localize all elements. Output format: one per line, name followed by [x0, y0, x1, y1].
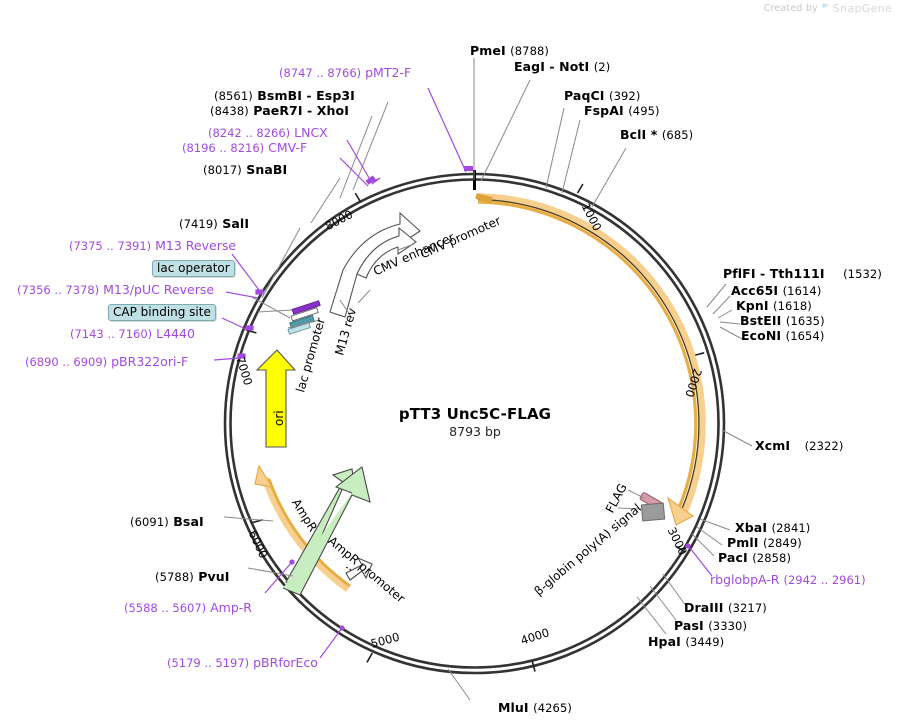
- enzyme-label-econi[interactable]: EcoNI (1654): [741, 329, 824, 342]
- primer-label-pmt2-f[interactable]: (8747 .. 8766) pMT2-F: [279, 66, 411, 79]
- primer-label-amp-r[interactable]: (5588 .. 5607) Amp-R: [124, 601, 252, 614]
- enzyme-position: (3217): [728, 601, 767, 615]
- enzyme-name: KpnI: [736, 298, 769, 313]
- enzyme-name: EagI - NotI: [514, 59, 589, 74]
- primer-name: CMV-F: [268, 140, 307, 155]
- plasmid-title-block: pTT3 Unc5C-FLAG 8793 bp: [325, 405, 625, 439]
- enzyme-position: (5788): [155, 570, 194, 584]
- enzyme-name: PasI: [674, 618, 704, 633]
- enzyme-label-mlui[interactable]: MluI (4265): [498, 701, 572, 714]
- enzyme-label-fspai[interactable]: FspAI (495): [584, 104, 660, 117]
- primer-range: (5179 .. 5197): [167, 656, 249, 670]
- enzyme-position: (495): [628, 104, 659, 118]
- enzyme-position: (2841): [772, 521, 811, 535]
- enzyme-name: FspAI: [584, 103, 624, 118]
- enzyme-name: PaqCI: [564, 88, 605, 103]
- primer-name: M13 Reverse: [155, 238, 236, 253]
- primer-label-m13-reverse[interactable]: (7375 .. 7391) M13 Reverse: [69, 239, 236, 252]
- unc5c-cds-arc: [476, 196, 702, 525]
- primer-range: (7375 .. 7391): [69, 239, 151, 253]
- primer-label-pbrforeco[interactable]: (5179 .. 5197) pBRforEco: [167, 656, 318, 669]
- enzyme-name: Acc65I: [731, 283, 778, 298]
- enzyme-label-sali[interactable]: (7419) SalI: [179, 217, 249, 230]
- enzyme-name: BsmBI - Esp3I: [257, 88, 355, 103]
- enzyme-position: (1532): [843, 267, 882, 281]
- primer-range: (5588 .. 5607): [124, 601, 206, 615]
- feature-box-lac-operator[interactable]: lac operator: [152, 260, 235, 277]
- primer-label-l4440[interactable]: (7143 .. 7160) L4440: [70, 327, 195, 340]
- primer-name: LNCX: [294, 125, 328, 140]
- enzyme-name: SalI: [222, 216, 249, 231]
- enzyme-name: BsaI: [173, 514, 203, 529]
- enzyme-label-pasi[interactable]: PasI (3330): [674, 619, 747, 632]
- enzyme-name: PacI: [718, 550, 748, 565]
- feature-label-ori[interactable]: ori: [272, 410, 286, 426]
- enzyme-name: XcmI: [755, 438, 790, 453]
- enzyme-label-bsai[interactable]: (6091) BsaI: [130, 515, 204, 528]
- enzyme-position: (1614): [783, 284, 822, 298]
- enzyme-label-pflfi-tth111i[interactable]: PflFI - Tth111I (1532): [723, 267, 882, 280]
- enzyme-label-kpni[interactable]: KpnI (1618): [736, 299, 812, 312]
- enzyme-position: (3449): [685, 635, 724, 649]
- enzyme-label-bcli[interactable]: BclI * (685): [620, 128, 693, 141]
- enzyme-position: (392): [609, 89, 640, 103]
- enzyme-position: (2322): [805, 439, 844, 453]
- primer-name: L4440: [156, 326, 195, 341]
- enzyme-name: PaeR7I - XhoI: [253, 103, 349, 118]
- enzyme-position: (8017): [203, 163, 242, 177]
- snapgene-watermark: Created by SnapGene: [764, 2, 892, 15]
- enzyme-position: (6091): [130, 515, 169, 529]
- primer-range: (7356 .. 7378): [17, 283, 99, 297]
- enzyme-label-pmei[interactable]: PmeI (8788): [470, 44, 549, 57]
- enzyme-label-xbai[interactable]: XbaI (2841): [735, 521, 810, 534]
- primer-name: M13/pUC Reverse: [103, 282, 214, 297]
- enzyme-position: (1654): [786, 329, 825, 343]
- enzyme-name: MluI: [498, 700, 529, 715]
- enzyme-position: (8561): [214, 89, 253, 103]
- primer-range: (8747 .. 8766): [279, 66, 361, 80]
- plasmid-map-canvas: Created by SnapGene: [0, 0, 898, 727]
- enzyme-position: (7419): [179, 217, 218, 231]
- enzyme-position: (2858): [752, 551, 791, 565]
- primer-range: (6890 .. 6909): [25, 355, 107, 369]
- primer-name: pMT2-F: [365, 65, 411, 80]
- enzyme-name: HpaI: [648, 634, 681, 649]
- plasmid-size: 8793 bp: [325, 424, 625, 439]
- enzyme-position: (8438): [210, 104, 249, 118]
- enzyme-name: DraIII: [684, 600, 724, 615]
- enzyme-position: (1618): [773, 299, 812, 313]
- primer-label-rbglobpa-r[interactable]: rbglobpA-R (2942 .. 2961): [710, 573, 866, 586]
- enzyme-label-xcmi[interactable]: XcmI (2322): [755, 439, 843, 452]
- feature-box-cap-binding-site[interactable]: CAP binding site: [108, 304, 216, 321]
- primer-range: (8196 .. 8216): [182, 141, 264, 155]
- enzyme-label-snabi[interactable]: (8017) SnaBI: [203, 163, 287, 176]
- primer-range: (7143 .. 7160): [70, 327, 152, 341]
- primer-label-cmv-f[interactable]: (8196 .. 8216) CMV-F: [182, 141, 307, 154]
- enzyme-label-draiii[interactable]: DraIII (3217): [684, 601, 767, 614]
- enzyme-position: (3330): [708, 619, 747, 633]
- primer-label-pbr322ori-f[interactable]: (6890 .. 6909) pBR322ori-F: [25, 355, 188, 368]
- watermark-brand: SnapGene: [833, 2, 892, 15]
- primer-name: rbglobpA-R: [710, 572, 779, 587]
- enzyme-label-hpai[interactable]: HpaI (3449): [648, 635, 724, 648]
- enzyme-label-paci[interactable]: PacI (2858): [718, 551, 791, 564]
- enzyme-name: XbaI: [735, 520, 767, 535]
- enzyme-name: SnaBI: [246, 162, 287, 177]
- enzyme-label-pmli[interactable]: PmlI (2849): [727, 536, 802, 549]
- primer-range: (8242 .. 8266): [208, 126, 290, 140]
- watermark-prefix: Created by: [764, 3, 818, 14]
- primer-label-m13-puc-reverse[interactable]: (7356 .. 7378) M13/pUC Reverse: [17, 283, 214, 296]
- enzyme-name: EcoNI: [741, 328, 781, 343]
- primer-name: pBR322ori-F: [111, 354, 188, 369]
- flag-polya-features: [639, 492, 664, 521]
- enzyme-label-bstei[interactable]: BstEII (1635): [740, 314, 825, 327]
- plasmid-name: pTT3 Unc5C-FLAG: [325, 405, 625, 423]
- enzyme-name: BstEII: [740, 313, 781, 328]
- primer-range: (2942 .. 2961): [783, 573, 865, 587]
- primer-label-lncx[interactable]: (8242 .. 8266) LNCX: [208, 126, 328, 139]
- enzyme-position: (2): [594, 60, 611, 74]
- enzyme-label-paer7i-xhoi[interactable]: (8438) PaeR7I - XhoI: [210, 104, 349, 117]
- enzyme-label-acc65i[interactable]: Acc65I (1614): [731, 284, 821, 297]
- enzyme-label-pvui[interactable]: (5788) PvuI: [155, 570, 230, 583]
- enzyme-label-eagi-noti[interactable]: EagI - NotI (2): [514, 60, 610, 73]
- enzyme-position: (685): [662, 128, 693, 142]
- enzyme-label-paqci[interactable]: PaqCI (392): [564, 89, 640, 102]
- enzyme-name: PmeI: [470, 43, 506, 58]
- enzyme-name: PmlI: [727, 535, 759, 550]
- enzyme-position: (8788): [510, 44, 549, 58]
- primer-name: pBRforEco: [253, 655, 318, 670]
- enzyme-position: (2849): [763, 536, 802, 550]
- enzyme-name: BclI *: [620, 127, 657, 142]
- enzyme-label-bsmbi-esp3i[interactable]: (8561) BsmBI - Esp3I: [214, 89, 355, 102]
- enzyme-position: (1635): [786, 314, 825, 328]
- enzyme-name: PvuI: [198, 569, 229, 584]
- enzyme-name: PflFI - Tth111I: [723, 266, 825, 281]
- ori-feature-arrow: [257, 350, 295, 447]
- snapgene-logo-icon: [821, 3, 830, 15]
- enzyme-position: (4265): [533, 701, 572, 715]
- primer-name: Amp-R: [210, 600, 252, 615]
